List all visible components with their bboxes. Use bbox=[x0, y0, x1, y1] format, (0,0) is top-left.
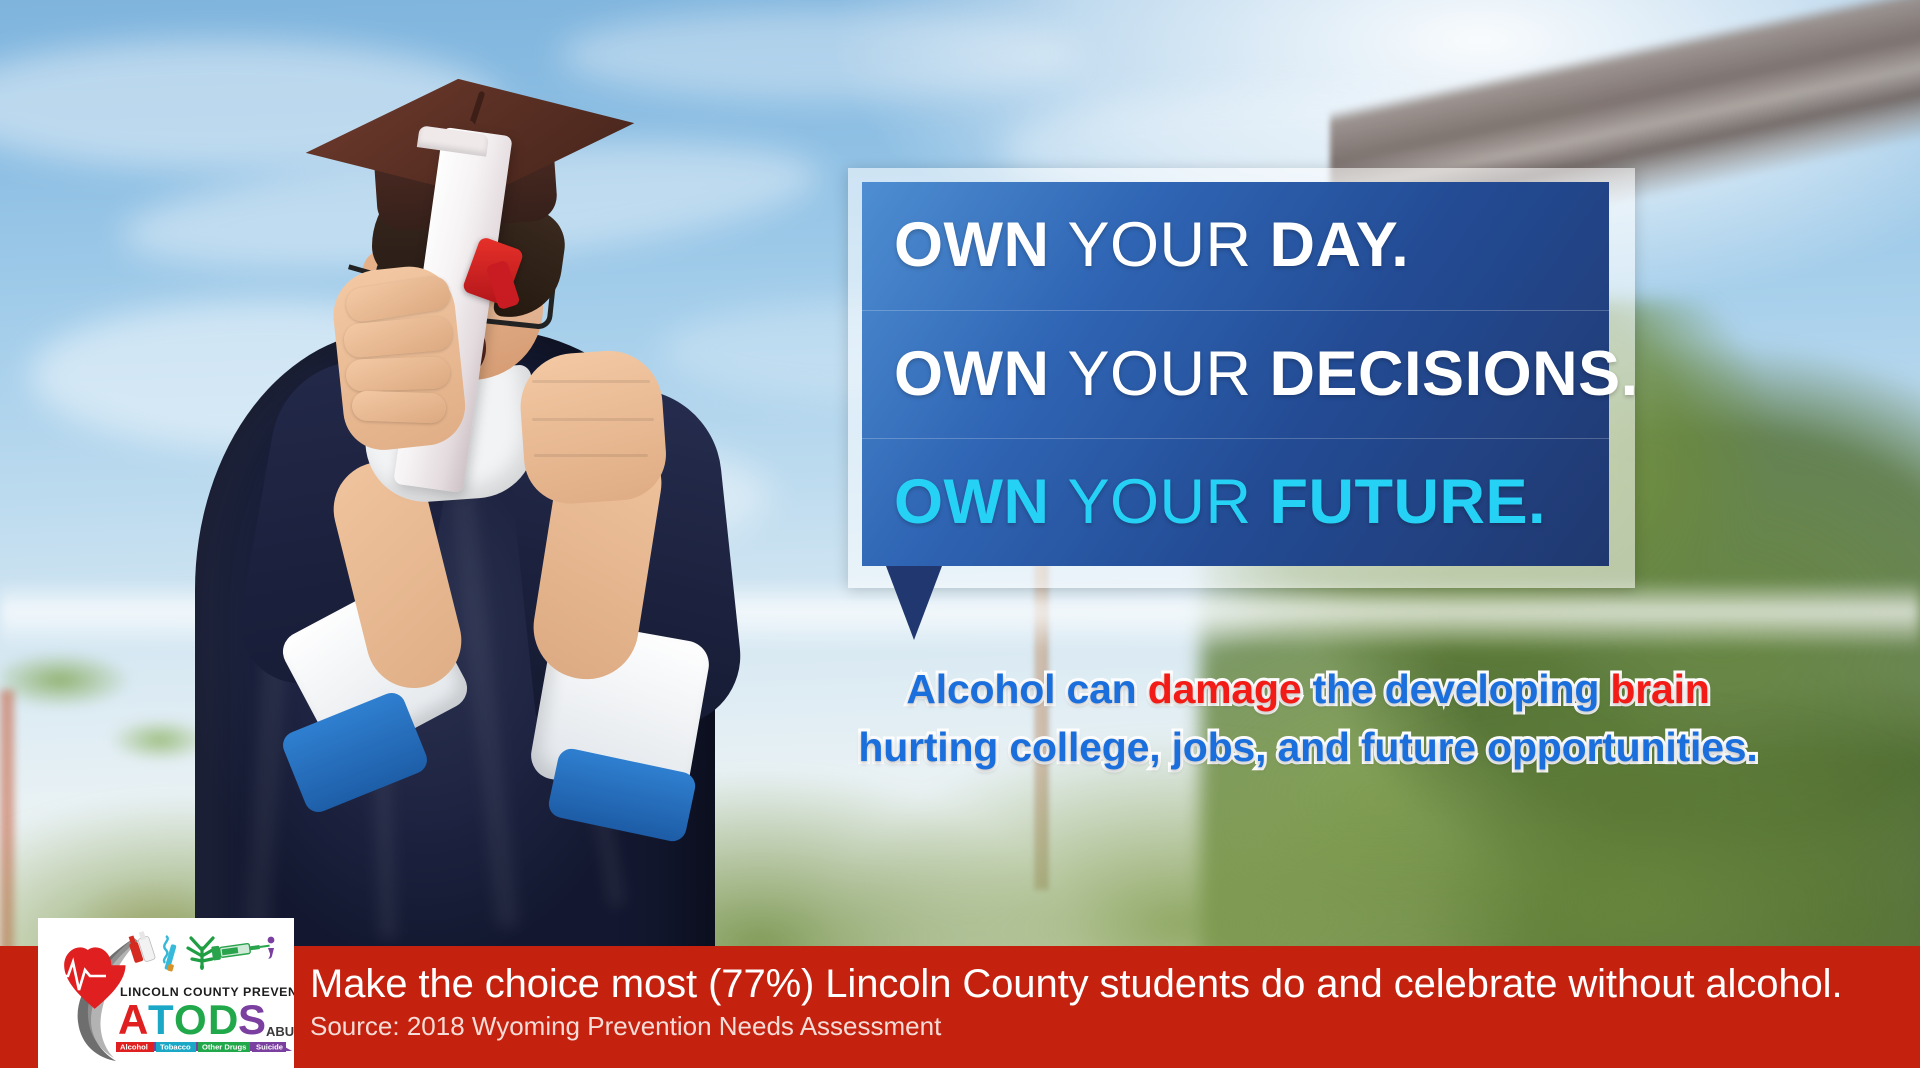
sub-seg-1: Alcohol can bbox=[906, 666, 1147, 712]
bottle-icon bbox=[126, 930, 155, 965]
syringe-icon bbox=[211, 939, 270, 961]
knuckle-line bbox=[532, 380, 650, 383]
bubble-tail bbox=[886, 566, 942, 640]
headline-3-word1: OWN bbox=[894, 467, 1049, 537]
sub-seg-damage: damage bbox=[1148, 666, 1302, 712]
headline-2-word3: DECISIONS. bbox=[1270, 339, 1639, 409]
headline-line-1: OWN YOUR DAY. bbox=[862, 182, 1609, 310]
tag-tobacco: Tobacco bbox=[160, 1043, 191, 1052]
logo-svg: LINCOLN COUNTY PREVENTING A T O D S ABUS… bbox=[38, 918, 294, 1080]
banner-source-text: Source: 2018 Wyoming Prevention Needs As… bbox=[310, 1011, 1890, 1042]
logo-abuse: ABUSE bbox=[266, 1024, 294, 1039]
finger bbox=[345, 356, 450, 392]
knuckle-line bbox=[532, 418, 654, 421]
sub-message: Alcohol can damage the developing brain … bbox=[848, 660, 1768, 776]
tag-alcohol: Alcohol bbox=[120, 1043, 148, 1052]
semicolon-icon bbox=[268, 937, 275, 959]
logo-letter-t: T bbox=[148, 996, 174, 1043]
headline-3-word2: YOUR bbox=[1067, 467, 1251, 537]
knuckle-line bbox=[534, 454, 648, 457]
headline-3-word3: FUTURE. bbox=[1270, 467, 1546, 537]
finger bbox=[352, 390, 447, 423]
headline-2-word1: OWN bbox=[894, 339, 1049, 409]
headline-line-3: OWN YOUR FUTURE. bbox=[862, 438, 1609, 566]
sub-seg-brain: brain bbox=[1610, 666, 1709, 712]
bottom-white-strip bbox=[0, 1068, 1920, 1080]
logo-letter-d: D bbox=[208, 996, 238, 1043]
sub-seg-3: the developing bbox=[1301, 666, 1610, 712]
sub-message-line-1: Alcohol can damage the developing brain bbox=[848, 660, 1768, 718]
cannabis-leaf-icon bbox=[188, 938, 216, 970]
banner-main-text: Make the choice most (77%) Lincoln Count… bbox=[310, 962, 1890, 1007]
headline-speech-bubble: OWN YOUR DAY. OWN YOUR DECISIONS. OWN YO… bbox=[848, 168, 1635, 588]
headline-2-word2: YOUR bbox=[1067, 339, 1251, 409]
headline-line-2: OWN YOUR DECISIONS. bbox=[862, 310, 1609, 438]
graduate-figure bbox=[140, 30, 760, 1014]
logo-letter-o: O bbox=[174, 996, 207, 1043]
headline-1-word1: OWN bbox=[894, 210, 1049, 280]
logo-letter-s: S bbox=[238, 996, 266, 1043]
tag-suicide: Suicide bbox=[256, 1043, 283, 1052]
raised-fist bbox=[517, 347, 669, 507]
atods-logo: LINCOLN COUNTY PREVENTING A T O D S ABUS… bbox=[38, 918, 294, 1080]
poster-canvas: OWN YOUR DAY. OWN YOUR DECISIONS. OWN YO… bbox=[0, 0, 1920, 1080]
headline-1-word3: DAY. bbox=[1270, 210, 1410, 280]
banner-text-block: Make the choice most (77%) Lincoln Count… bbox=[310, 962, 1890, 1042]
headline-1-word2: YOUR bbox=[1067, 210, 1251, 280]
logo-letter-a: A bbox=[118, 996, 148, 1043]
tag-other-drugs: Other Drugs bbox=[202, 1043, 246, 1052]
cigarette-icon bbox=[164, 936, 177, 972]
sub-message-line-2: hurting college, jobs, and future opport… bbox=[848, 718, 1768, 776]
bubble-body: OWN YOUR DAY. OWN YOUR DECISIONS. OWN YO… bbox=[862, 182, 1609, 566]
